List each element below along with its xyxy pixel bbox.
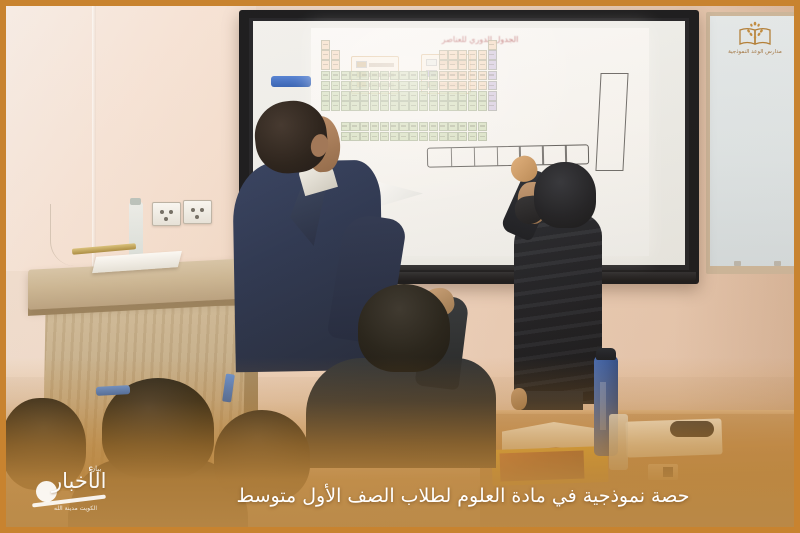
caption-text: حصة نموذجية في مادة العلوم لطلاب الصف ال… xyxy=(156,485,770,507)
pencil-pouch xyxy=(670,421,714,437)
student-hand xyxy=(511,388,527,410)
water-bottle xyxy=(129,202,143,260)
bottle-cap xyxy=(596,348,616,360)
news-logo-word: الأخبار xyxy=(52,469,107,493)
whiteboard-clip xyxy=(774,261,781,266)
photo-frame: مدارس الوعد النموذجية الجدول الدوري للعن… xyxy=(0,0,800,533)
bottle-label xyxy=(600,382,606,430)
blue-marker-icon[interactable] xyxy=(271,76,311,87)
seated-student-head xyxy=(358,284,450,372)
news-logo-subtitle: الكويت مدينة الله xyxy=(54,505,97,512)
school-logo-text: مدارس الوعد النموذجية xyxy=(728,49,782,55)
small-water-bottle xyxy=(609,414,628,470)
power-socket xyxy=(152,202,181,226)
news-agency-logo[interactable]: بيان الأخبار الكويت مدينة الله xyxy=(28,465,138,519)
blue-marker-icon xyxy=(96,385,130,396)
water-bottle-cap xyxy=(130,198,141,205)
whiteboard-clip xyxy=(734,261,741,266)
wall-seam xyxy=(92,6,96,276)
open-book-wheat-icon xyxy=(738,21,772,47)
seated-student-torso xyxy=(306,358,496,468)
power-socket xyxy=(183,200,212,224)
school-logo: مدارس الوعد النموذجية xyxy=(718,14,792,62)
student-head xyxy=(534,162,596,228)
student-puffer-jacket xyxy=(514,214,602,404)
